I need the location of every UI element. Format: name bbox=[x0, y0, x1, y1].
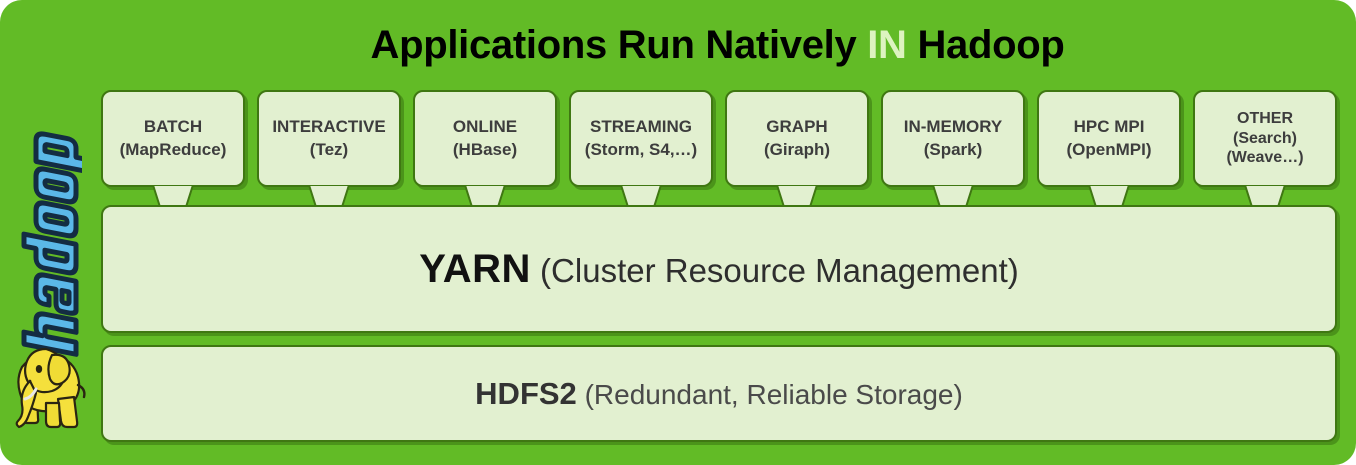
app-box-graph-line1: GRAPH bbox=[766, 116, 827, 138]
app-box-hpc-mpi-line1: HPC MPI bbox=[1074, 116, 1145, 138]
app-box-batch-line1: BATCH bbox=[144, 116, 202, 138]
app-box-streaming-line1: STREAMING bbox=[590, 116, 692, 138]
yarn-label-strong: YARN bbox=[419, 247, 531, 291]
hdfs-label-rest: (Redundant, Reliable Storage) bbox=[577, 379, 963, 410]
app-box-batch[interactable]: BATCH(MapReduce) bbox=[101, 90, 245, 187]
app-box-other-line1: OTHER bbox=[1237, 109, 1293, 129]
app-box-online-line1: ONLINE bbox=[453, 116, 517, 138]
hdfs-label-strong: HDFS2 bbox=[475, 376, 577, 411]
app-box-graph[interactable]: GRAPH(Giraph) bbox=[725, 90, 869, 187]
yarn-layer[interactable]: YARN (Cluster Resource Management) bbox=[101, 205, 1337, 333]
hadoop-wordmark-icon bbox=[18, 129, 82, 361]
app-box-batch-line2: (MapReduce) bbox=[120, 139, 227, 161]
app-box-graph-line2: (Giraph) bbox=[764, 139, 830, 161]
app-box-interactive-line1: INTERACTIVE bbox=[272, 116, 385, 138]
hadoop-elephant-icon bbox=[6, 333, 94, 435]
hdfs-label: HDFS2 (Redundant, Reliable Storage) bbox=[475, 376, 963, 412]
app-box-hpc-mpi-line2: (OpenMPI) bbox=[1067, 139, 1152, 161]
yarn-label: YARN (Cluster Resource Management) bbox=[419, 247, 1019, 292]
app-box-in-memory-line1: IN-MEMORY bbox=[904, 116, 1003, 138]
app-box-online-line2: (HBase) bbox=[453, 139, 517, 161]
app-box-other-line3: (Weave…) bbox=[1226, 148, 1303, 168]
app-box-other[interactable]: OTHER(Search)(Weave…) bbox=[1193, 90, 1337, 187]
app-box-in-memory-line2: (Spark) bbox=[924, 139, 983, 161]
title-text-accent: IN bbox=[867, 23, 906, 67]
app-box-online[interactable]: ONLINE(HBase) bbox=[413, 90, 557, 187]
hadoop-architecture-diagram: Applications Run Natively IN Hadoop bbox=[0, 0, 1356, 465]
app-box-streaming-line2: (Storm, S4,…) bbox=[585, 139, 697, 161]
app-box-interactive[interactable]: INTERACTIVE(Tez) bbox=[257, 90, 401, 187]
page-title: Applications Run Natively IN Hadoop bbox=[95, 14, 1340, 76]
app-box-interactive-line2: (Tez) bbox=[310, 139, 348, 161]
app-box-other-line2: (Search) bbox=[1233, 129, 1297, 149]
hadoop-logo bbox=[0, 85, 100, 455]
title-text-after: Hadoop bbox=[907, 23, 1065, 67]
title-text-before: Applications Run Natively bbox=[370, 23, 867, 67]
app-box-streaming[interactable]: STREAMING(Storm, S4,…) bbox=[569, 90, 713, 187]
hdfs-layer[interactable]: HDFS2 (Redundant, Reliable Storage) bbox=[101, 345, 1337, 442]
yarn-label-rest: (Cluster Resource Management) bbox=[531, 252, 1019, 289]
app-box-in-memory[interactable]: IN-MEMORY(Spark) bbox=[881, 90, 1025, 187]
app-box-hpc-mpi[interactable]: HPC MPI(OpenMPI) bbox=[1037, 90, 1181, 187]
